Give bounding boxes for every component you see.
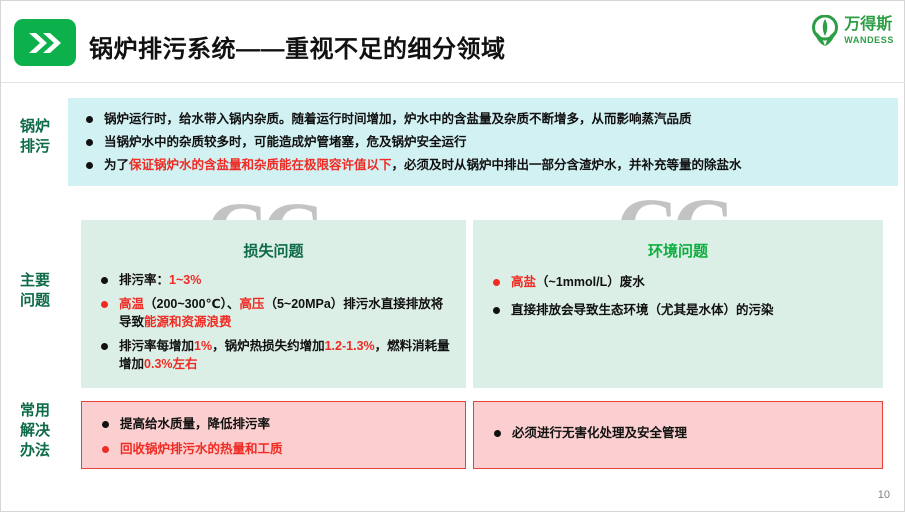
slide: 锅炉排污系统——重视不足的细分领域 万得斯 WANDESS CC CC 锅炉 排…: [0, 0, 905, 512]
page-number: 10: [878, 489, 890, 501]
row-label-line: 排污: [9, 137, 61, 157]
bullet-text-run: 排污率每增加: [119, 339, 194, 353]
solution-right-bullet-list: 必须进行无害化处理及安全管理: [474, 402, 882, 442]
loss-problem-title: 损失问题: [81, 220, 466, 261]
bullet-item: 高盐（~1mmol/L）废水: [487, 273, 869, 291]
overview-bullet-list: 锅炉运行时，给水带入锅内杂质。随着运行时间增加，炉水中的含盐量及杂质不断增多，从…: [68, 98, 898, 174]
bullet-item: 锅炉运行时，给水带入锅内杂质。随着运行时间增加，炉水中的含盐量及杂质不断增多，从…: [80, 110, 882, 128]
bullet-item: 当锅炉水中的杂质较多时，可能造成炉管堵塞，危及锅炉安全运行: [80, 133, 882, 151]
row-label-line: 办法: [9, 441, 61, 461]
bullet-item: 排污率每增加1%，锅炉热损失约增加1.2-1.3%，燃料消耗量增加0.3%左右: [95, 337, 452, 373]
row-label-common-solutions: 常用 解决 办法: [9, 401, 61, 461]
sprout-leaf-logo-icon: [810, 15, 840, 47]
bullet-text-run: 当锅炉水中的杂质较多时，可能造成炉管堵塞，危及锅炉安全运行: [104, 135, 467, 149]
bullet-text-run: 锅炉运行时，给水带入锅内杂质。随着运行时间增加，炉水中的含盐量及杂质不断增多，从…: [104, 112, 692, 126]
bullet-text-run: ，锅炉热损失约增加: [212, 339, 325, 353]
slide-header: 锅炉排污系统——重视不足的细分领域 万得斯 WANDESS: [1, 1, 905, 83]
bullet-text-run: 1~3%: [169, 273, 201, 287]
loss-problem-panel: 损失问题 排污率：1~3%高温（200~300℃）、高压（5~20MPa）排污水…: [81, 220, 466, 388]
environment-problem-panel: 环境问题 高盐（~1mmol/L）废水直接排放会导致生态环境（尤其是水体）的污染: [473, 220, 883, 388]
bullet-text-run: 高压: [239, 297, 264, 311]
bullet-text-run: （~1mmol/L）废水: [536, 275, 645, 289]
bullet-text-run: 能源和资源浪费: [144, 315, 232, 329]
logo-name-cn: 万得斯: [844, 17, 894, 33]
company-logo: 万得斯 WANDESS: [810, 15, 894, 47]
bullet-item: 为了保证锅炉水的含盐量和杂质能在极限容许值以下，必须及时从锅炉中排出一部分含渣炉…: [80, 156, 882, 174]
page-title: 锅炉排污系统——重视不足的细分领域: [89, 29, 506, 64]
bullet-item: 必须进行无害化处理及安全管理: [488, 424, 868, 442]
solution-left-panel: 提高给水质量，降低排污率回收锅炉排污水的热量和工质: [81, 401, 466, 469]
bullet-text-run: 直接排放会导致生态环境（尤其是水体）的污染: [511, 303, 774, 317]
logo-name-en: WANDESS: [844, 36, 894, 45]
bullet-text-run: 为了: [104, 158, 129, 172]
row-label-line: 问题: [9, 291, 61, 311]
row-label-line: 主要: [9, 271, 61, 291]
overview-panel: 锅炉运行时，给水带入锅内杂质。随着运行时间增加，炉水中的含盐量及杂质不断增多，从…: [68, 98, 898, 186]
bullet-text-run: 1%: [194, 339, 212, 353]
row-label-line: 锅炉: [9, 117, 61, 137]
bullet-text-run: 提高给水质量，降低排污率: [120, 417, 270, 431]
bullet-text-run: ，必须及时从锅炉中排出一部分含渣炉水，并补充等量的除盐水: [392, 158, 742, 172]
row-label-boiler-blowdown: 锅炉 排污: [9, 117, 61, 157]
bullet-text-run: 0.3%左右: [144, 357, 198, 371]
bullet-text-run: 回收锅炉排污水的热量和工质: [120, 442, 283, 456]
bullet-text-run: 高温: [119, 297, 144, 311]
double-chevron-right-icon: [14, 19, 76, 66]
bullet-text-run: 排污率：: [119, 273, 169, 287]
bullet-item: 排污率：1~3%: [95, 271, 452, 289]
header-divider: [1, 82, 905, 83]
bullet-item: 高温（200~300℃）、高压（5~20MPa）排污水直接排放将导致能源和资源浪…: [95, 295, 452, 331]
bullet-text-run: 1.2-1.3%: [325, 339, 375, 353]
bullet-item: 回收锅炉排污水的热量和工质: [96, 440, 451, 458]
solution-right-panel: 必须进行无害化处理及安全管理: [473, 401, 883, 469]
environment-problem-bullet-list: 高盐（~1mmol/L）废水直接排放会导致生态环境（尤其是水体）的污染: [473, 261, 883, 319]
row-label-line: 常用: [9, 401, 61, 421]
bullet-text-run: 保证锅炉水的含盐量和杂质能在极限容许值以下: [129, 158, 392, 172]
row-label-line: 解决: [9, 421, 61, 441]
bullet-text-run: （200~300℃）、: [144, 297, 239, 311]
bullet-item: 提高给水质量，降低排污率: [96, 415, 451, 433]
bullet-text-run: 必须进行无害化处理及安全管理: [512, 426, 687, 440]
loss-problem-bullet-list: 排污率：1~3%高温（200~300℃）、高压（5~20MPa）排污水直接排放将…: [81, 261, 466, 373]
bullet-text-run: 高盐: [511, 275, 536, 289]
environment-problem-title: 环境问题: [473, 220, 883, 261]
solution-left-bullet-list: 提高给水质量，降低排污率回收锅炉排污水的热量和工质: [82, 402, 465, 458]
bullet-item: 直接排放会导致生态环境（尤其是水体）的污染: [487, 301, 869, 319]
row-label-main-problems: 主要 问题: [9, 271, 61, 311]
